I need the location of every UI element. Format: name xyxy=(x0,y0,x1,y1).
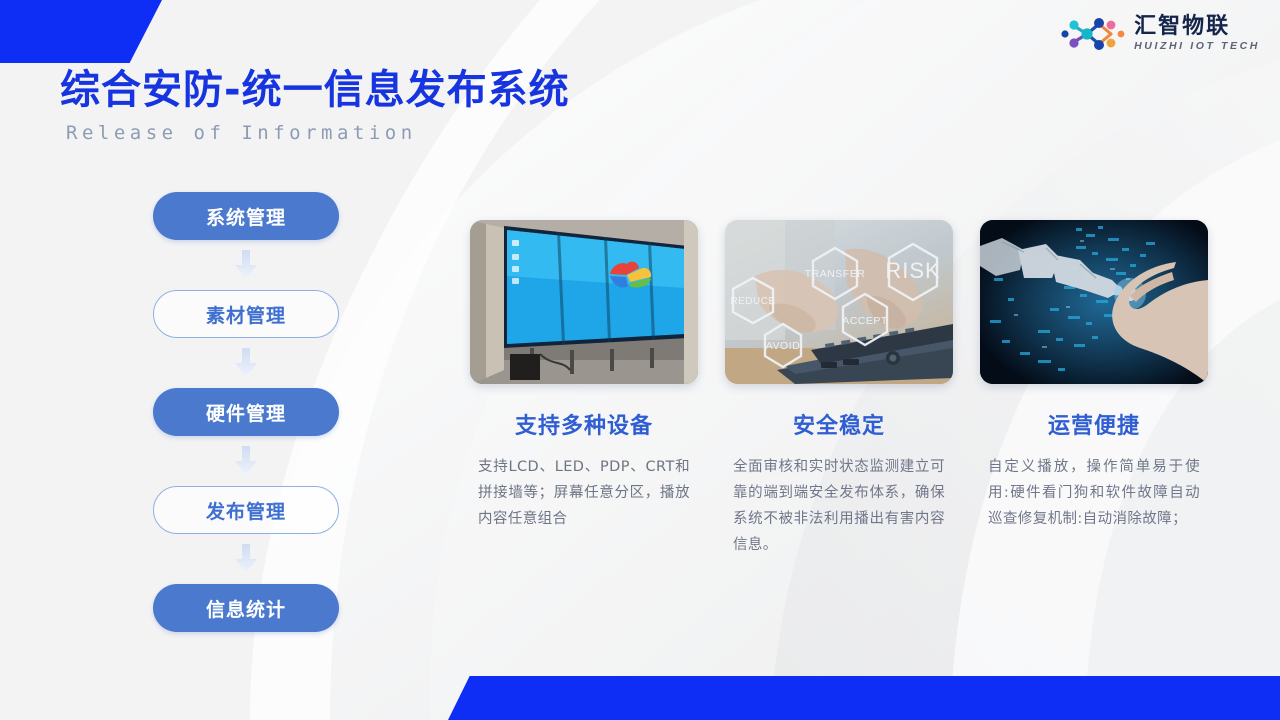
arrow-down-icon xyxy=(231,248,261,282)
molecule-network-icon xyxy=(1061,14,1125,54)
arrow-down-icon xyxy=(231,444,261,478)
flow-step-label: 发布管理 xyxy=(206,497,286,524)
flow-step-info-statistics[interactable]: 信息统计 xyxy=(153,584,339,632)
feature-card: 支持多种设备 支持LCD、LED、PDP、CRT和拼接墙等；屏幕任意分区，播放内… xyxy=(470,220,698,532)
card-body: 自定义播放，操作简单易于使用:硬件看门狗和软件故障自动巡查修复机制:自动消除故障… xyxy=(988,454,1200,532)
feature-cards: 支持多种设备 支持LCD、LED、PDP、CRT和拼接墙等；屏幕任意分区，播放内… xyxy=(470,220,1208,558)
brand-logo: 汇智物联 HUIZHI IOT TECH xyxy=(1061,14,1260,54)
bottom-accent-shape xyxy=(448,676,1280,720)
brand-name-en: HUIZHI IOT TECH xyxy=(1134,40,1260,53)
card-body: 支持LCD、LED、PDP、CRT和拼接墙等；屏幕任意分区，播放内容任意组合 xyxy=(478,454,690,532)
brand-name-cn: 汇智物联 xyxy=(1134,15,1230,39)
card-body: 全面审核和实时状态监测建立可靠的端到端安全发布体系，确保系统不被非法利用播出有害… xyxy=(733,454,945,558)
process-flow: 系统管理 素材管理 硬件管理 发布管 xyxy=(153,192,339,632)
video-wall-display-photo xyxy=(470,220,698,384)
flow-step-label: 信息统计 xyxy=(206,595,286,622)
robot-human-hand-data-photo xyxy=(980,220,1208,384)
feature-card: RISK TRANSFER REDUCE ACCEPT AVOID 安全稳定 全… xyxy=(725,220,953,558)
card-title: 安全稳定 xyxy=(793,408,885,440)
page-title: 综合安防-统一信息发布系统 xyxy=(60,68,570,113)
flow-step-publish-management[interactable]: 发布管理 xyxy=(153,486,339,534)
flow-step-material-management[interactable]: 素材管理 xyxy=(153,290,339,338)
card-title: 运营便捷 xyxy=(1048,408,1140,440)
arrow-down-icon xyxy=(231,346,261,380)
title-block: 综合安防-统一信息发布系统 Release of Information xyxy=(60,68,570,144)
slide-root: 汇智物联 HUIZHI IOT TECH 综合安防-统一信息发布系统 Relea… xyxy=(0,0,1280,720)
feature-card: 运营便捷 自定义播放，操作简单易于使用:硬件看门狗和软件故障自动巡查修复机制:自… xyxy=(980,220,1208,532)
flow-step-label: 素材管理 xyxy=(206,301,286,328)
card-title: 支持多种设备 xyxy=(515,408,653,440)
flow-step-label: 硬件管理 xyxy=(206,399,286,426)
flow-step-hardware-management[interactable]: 硬件管理 xyxy=(153,388,339,436)
flow-step-label: 系统管理 xyxy=(206,203,286,230)
page-subtitle: Release of Information xyxy=(66,122,570,144)
arrow-down-icon xyxy=(231,542,261,576)
flow-step-system-management[interactable]: 系统管理 xyxy=(153,192,339,240)
risk-management-laptop-photo: RISK TRANSFER REDUCE ACCEPT AVOID xyxy=(725,220,953,384)
